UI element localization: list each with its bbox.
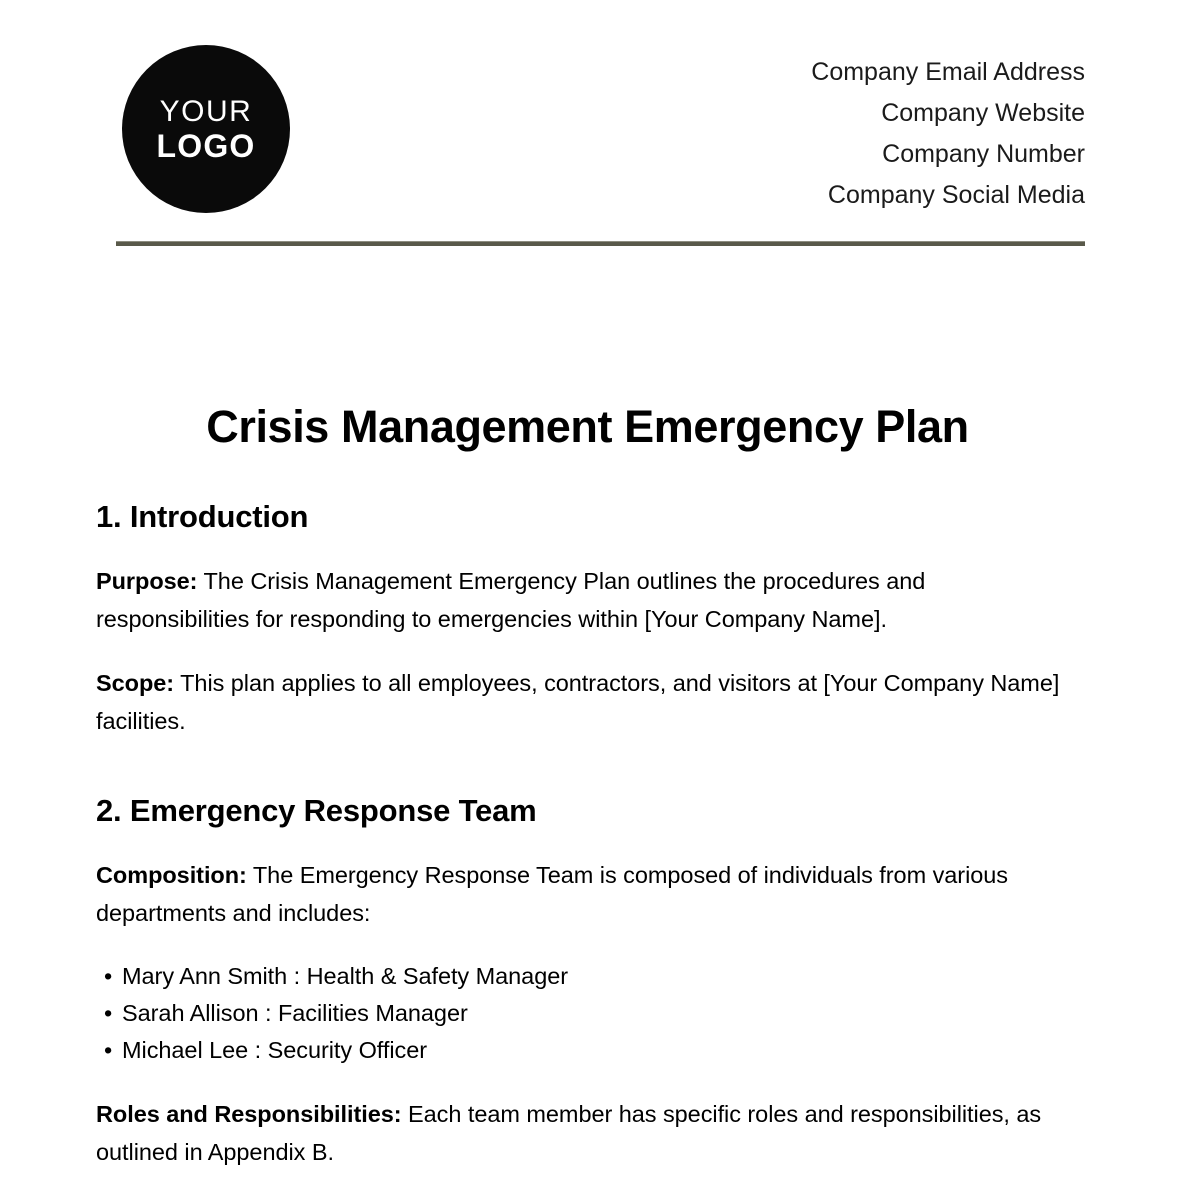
paragraph-purpose-lead: Purpose:	[96, 568, 197, 594]
header-divider-rule	[116, 241, 1085, 246]
contact-number: Company Number	[811, 134, 1085, 175]
paragraph-scope: Scope: This plan applies to all employee…	[96, 664, 1079, 740]
paragraph-purpose: Purpose: The Crisis Management Emergency…	[96, 562, 1079, 638]
document-page: YOUR LOGO Company Email Address Company …	[0, 0, 1200, 1200]
paragraph-roles-lead: Roles and Responsibilities:	[96, 1101, 402, 1127]
company-contact-block: Company Email Address Company Website Co…	[811, 52, 1085, 216]
document-body: Crisis Management Emergency Plan 1. Intr…	[96, 400, 1079, 1197]
contact-website: Company Website	[811, 93, 1085, 134]
contact-social-media: Company Social Media	[811, 175, 1085, 216]
document-header: YOUR LOGO Company Email Address Company …	[0, 0, 1200, 230]
paragraph-composition-lead: Composition:	[96, 862, 247, 888]
section-heading-introduction: 1. Introduction	[96, 498, 1079, 536]
section-heading-emergency-response-team: 2. Emergency Response Team	[96, 792, 1079, 830]
paragraph-composition: Composition: The Emergency Response Team…	[96, 856, 1079, 932]
team-member-list: Mary Ann Smith : Health & Safety Manager…	[96, 958, 1079, 1069]
company-logo: YOUR LOGO	[122, 45, 290, 213]
list-item: Mary Ann Smith : Health & Safety Manager	[96, 958, 1079, 995]
page-title: Crisis Management Emergency Plan	[96, 400, 1079, 454]
paragraph-scope-text: This plan applies to all employees, cont…	[96, 670, 1059, 734]
logo-text-logo: LOGO	[156, 130, 255, 162]
contact-email-address: Company Email Address	[811, 52, 1085, 93]
list-item: Michael Lee : Security Officer	[96, 1032, 1079, 1069]
paragraph-scope-lead: Scope:	[96, 670, 174, 696]
paragraph-purpose-text: The Crisis Management Emergency Plan out…	[96, 568, 925, 632]
paragraph-roles-and-responsibilities: Roles and Responsibilities: Each team me…	[96, 1095, 1079, 1171]
logo-text-your: YOUR	[160, 97, 253, 127]
list-item: Sarah Allison : Facilities Manager	[96, 995, 1079, 1032]
